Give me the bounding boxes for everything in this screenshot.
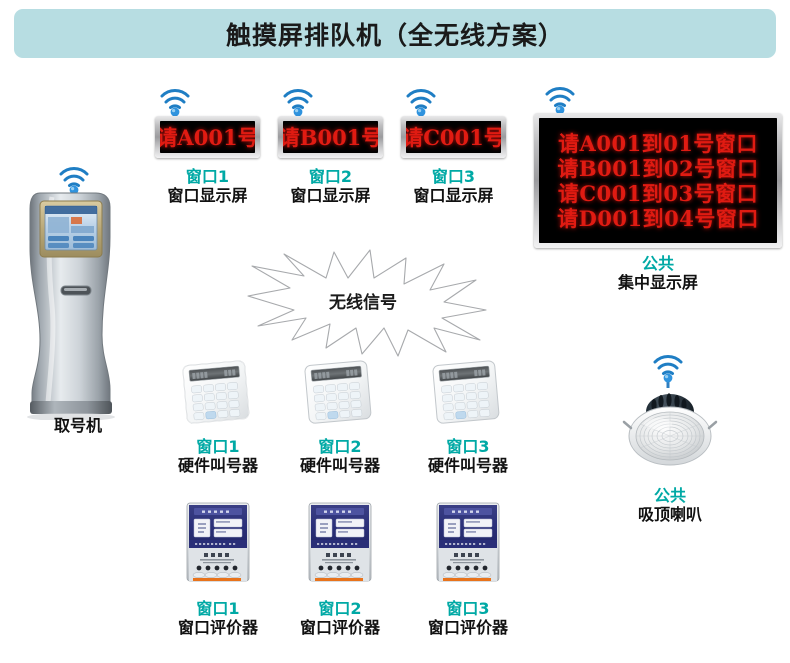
central-display-screen: 请A001到01号窗口 请B001到02号窗口 请C001到03号窗口 请D00…	[539, 118, 777, 243]
ceiling-speaker-caption: 公共 吸顶喇叭	[620, 486, 720, 524]
window-evaluator-1	[185, 501, 251, 583]
hardware-caller-3-label-bottom: 硬件叫号器	[418, 456, 518, 475]
window-display-3-screen: 请C001号	[406, 121, 501, 153]
window-display-3: 请C001号	[401, 116, 506, 158]
window-evaluator-3-label-bottom: 窗口评价器	[418, 618, 518, 637]
hardware-caller-2	[300, 360, 378, 426]
window-display-1-label-bottom: 窗口显示屏	[155, 186, 260, 205]
window-evaluator-1-label-bottom: 窗口评价器	[168, 618, 268, 637]
window-evaluator-2-label-bottom: 窗口评价器	[290, 618, 390, 637]
window-evaluator-2-caption: 窗口2 窗口评价器	[290, 599, 390, 637]
window-evaluator-3-label-top: 窗口3	[418, 599, 518, 618]
window-display-2-label-top: 窗口2	[278, 167, 383, 186]
window-evaluator-1-caption: 窗口1 窗口评价器	[168, 599, 268, 637]
ticket-kiosk	[18, 175, 138, 420]
window-display-2-label-bottom: 窗口显示屏	[278, 186, 383, 205]
page-title: 触摸屏排队机（全无线方案）	[226, 16, 564, 52]
window-evaluator-3	[435, 501, 501, 583]
window-display-3-text: 请C001号	[406, 122, 501, 152]
hardware-caller-1-label-bottom: 硬件叫号器	[168, 456, 268, 475]
window-display-1-text: 请A001号	[160, 122, 255, 152]
window-evaluator-3-caption: 窗口3 窗口评价器	[418, 599, 518, 637]
central-display-caption: 公共 集中显示屏	[534, 254, 782, 292]
central-display-label-top: 公共	[534, 254, 782, 273]
window-evaluator-2	[307, 501, 373, 583]
ceiling-speaker-label-top: 公共	[620, 486, 720, 505]
window-display-1-label-top: 窗口1	[155, 167, 260, 186]
window-display-2-caption: 窗口2 窗口显示屏	[278, 167, 383, 205]
hardware-caller-3-caption: 窗口3 硬件叫号器	[418, 437, 518, 475]
window-display-1: 请A001号	[155, 116, 260, 158]
window-display-2-text: 请B001号	[283, 122, 378, 152]
hardware-caller-1-label-top: 窗口1	[168, 437, 268, 456]
hardware-caller-2-caption: 窗口2 硬件叫号器	[290, 437, 390, 475]
window-display-1-screen: 请A001号	[160, 121, 255, 153]
window-display-2-screen: 请B001号	[283, 121, 378, 153]
ceiling-speaker	[620, 378, 720, 470]
central-display-line-1: 请A001到01号窗口	[558, 131, 758, 156]
wireless-signal-label: 无线信号	[238, 288, 488, 313]
central-display: 请A001到01号窗口 请B001到02号窗口 请C001到03号窗口 请D00…	[534, 113, 782, 248]
page-title-banner: 触摸屏排队机（全无线方案）	[14, 9, 776, 58]
hardware-caller-1-caption: 窗口1 硬件叫号器	[168, 437, 268, 475]
window-evaluator-2-label-top: 窗口2	[290, 599, 390, 618]
window-display-1-caption: 窗口1 窗口显示屏	[155, 167, 260, 205]
window-display-2: 请B001号	[278, 116, 383, 158]
window-display-3-label-top: 窗口3	[401, 167, 506, 186]
ceiling-speaker-label-bottom: 吸顶喇叭	[620, 505, 720, 524]
hardware-caller-2-label-bottom: 硬件叫号器	[290, 456, 390, 475]
central-display-line-2: 请B001到02号窗口	[557, 156, 758, 181]
hardware-caller-3-label-top: 窗口3	[418, 437, 518, 456]
window-evaluator-1-label-top: 窗口1	[168, 599, 268, 618]
central-display-label-bottom: 集中显示屏	[534, 273, 782, 292]
hardware-caller-1	[178, 360, 256, 426]
window-display-3-label-bottom: 窗口显示屏	[401, 186, 506, 205]
central-display-line-4: 请D001到04号窗口	[557, 206, 759, 231]
hardware-caller-2-label-top: 窗口2	[290, 437, 390, 456]
hardware-caller-3	[428, 360, 506, 426]
central-display-line-3: 请C001到03号窗口	[558, 181, 758, 206]
kiosk-label: 取号机	[18, 416, 138, 435]
kiosk-caption: 取号机	[18, 416, 138, 435]
window-display-3-caption: 窗口3 窗口显示屏	[401, 167, 506, 205]
diagram-canvas: 触摸屏排队机（全无线方案）	[0, 0, 790, 663]
